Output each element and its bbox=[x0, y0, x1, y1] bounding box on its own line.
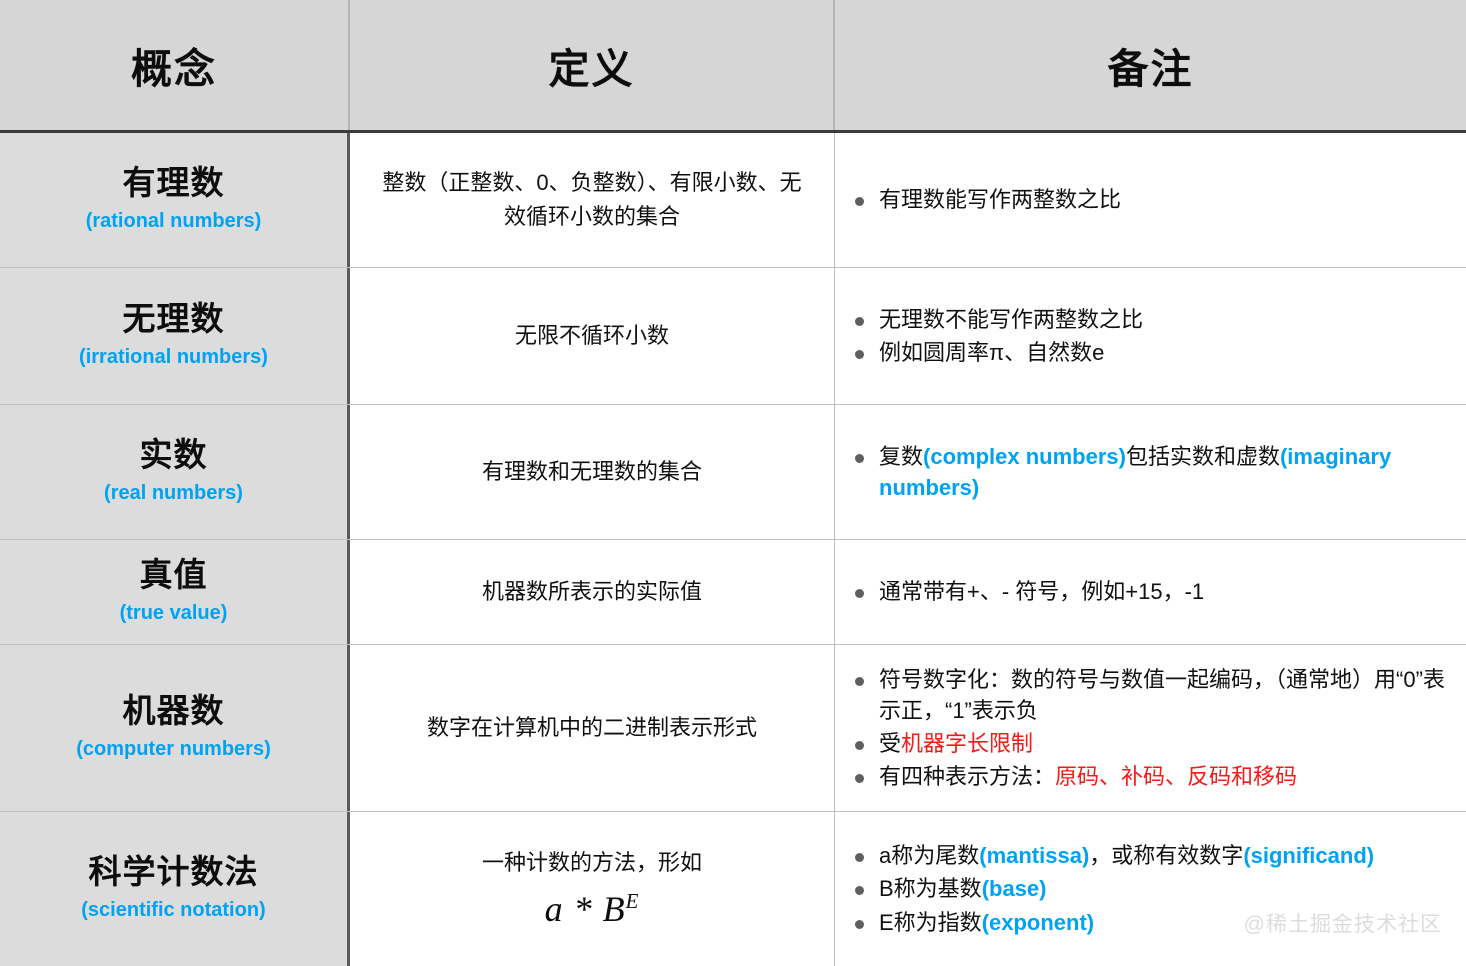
table-body: 有理数(rational numbers)整数（正整数、0、负整数）、有限小数、… bbox=[0, 133, 1466, 966]
note-item: 符号数字化：数的符号与数值一起编码，（通常地）用“0”表示正，“1”表示负 bbox=[845, 664, 1452, 726]
cell-concept: 实数(real numbers) bbox=[0, 405, 350, 539]
concept-name-en: (real numbers) bbox=[104, 479, 243, 508]
cell-notes: 通常带有+、- 符号，例如+15，-1 bbox=[835, 540, 1466, 644]
note-item: 有四种表示方法：原码、补码、反码和移码 bbox=[845, 761, 1452, 792]
column-header-notes: 备注 bbox=[835, 0, 1466, 130]
table-row: 有理数(rational numbers)整数（正整数、0、负整数）、有限小数、… bbox=[0, 133, 1466, 268]
note-item: E称为指数(exponent) bbox=[845, 907, 1452, 938]
note-segment-plain: 复数 bbox=[879, 444, 923, 469]
cell-notes: 无理数不能写作两整数之比例如圆周率π、自然数e bbox=[835, 268, 1466, 404]
note-segment-plain: 有四种表示方法： bbox=[879, 764, 1055, 789]
concept-table: 概念 定义 备注 有理数(rational numbers)整数（正整数、0、负… bbox=[0, 0, 1466, 966]
cell-notes: a称为尾数(mantissa)，或称有效数字(significand)B称为基数… bbox=[835, 812, 1466, 966]
concept-name-cn: 实数 bbox=[140, 436, 208, 475]
note-segment-plain: 无理数不能写作两整数之比 bbox=[879, 307, 1143, 332]
table-row: 真值(true value)机器数所表示的实际值通常带有+、- 符号，例如+15… bbox=[0, 540, 1466, 645]
note-item: 受机器字长限制 bbox=[845, 728, 1452, 759]
note-segment-plain: 通常带有+、- 符号，例如+15，-1 bbox=[879, 579, 1204, 604]
note-item: 无理数不能写作两整数之比 bbox=[845, 304, 1452, 335]
definition-text: 无限不循环小数 bbox=[515, 319, 669, 353]
concept-name-en: (scientific notation) bbox=[81, 896, 265, 925]
definition-text: 机器数所表示的实际值 bbox=[482, 575, 702, 609]
column-header-definition-label: 定义 bbox=[549, 35, 635, 95]
table-row: 实数(real numbers)有理数和无理数的集合复数(complex num… bbox=[0, 405, 1466, 540]
note-segment-plain: 例如圆周率π、自然数e bbox=[879, 340, 1104, 365]
cell-definition: 数字在计算机中的二进制表示形式 bbox=[350, 645, 835, 811]
note-item: 有理数能写作两整数之比 bbox=[845, 184, 1452, 215]
formula-base: a * B bbox=[545, 889, 626, 929]
column-header-concept: 概念 bbox=[0, 0, 350, 130]
column-header-notes-label: 备注 bbox=[1108, 35, 1194, 95]
cell-concept: 无理数(irrational numbers) bbox=[0, 268, 350, 404]
note-segment-blue: (significand) bbox=[1243, 843, 1374, 868]
note-segment-plain: a称为尾数 bbox=[879, 843, 979, 868]
notes-list: 符号数字化：数的符号与数值一起编码，（通常地）用“0”表示正，“1”表示负受机器… bbox=[845, 662, 1452, 795]
notes-list: 有理数能写作两整数之比 bbox=[845, 182, 1452, 217]
table-header-row: 概念 定义 备注 bbox=[0, 0, 1466, 133]
concept-name-en: (rational numbers) bbox=[86, 207, 262, 236]
concept-name-en: (computer numbers) bbox=[76, 735, 270, 764]
concept-name-cn: 机器数 bbox=[123, 692, 225, 731]
cell-notes: 复数(complex numbers)包括实数和虚数(imaginary num… bbox=[835, 405, 1466, 539]
note-segment-plain: ，或称有效数字 bbox=[1089, 843, 1243, 868]
definition-text: 整数（正整数、0、负整数）、有限小数、无效循环小数的集合 bbox=[372, 166, 812, 234]
cell-concept: 科学计数法(scientific notation) bbox=[0, 812, 350, 966]
note-segment-plain: 受 bbox=[879, 731, 901, 756]
table-row: 机器数(computer numbers)数字在计算机中的二进制表示形式符号数字… bbox=[0, 645, 1466, 812]
note-item: 复数(complex numbers)包括实数和虚数(imaginary num… bbox=[845, 441, 1452, 503]
note-item: B称为基数(base) bbox=[845, 873, 1452, 904]
note-item: 例如圆周率π、自然数e bbox=[845, 337, 1452, 368]
concept-name-cn: 真值 bbox=[140, 556, 208, 595]
concept-name-en: (irrational numbers) bbox=[79, 343, 268, 372]
table-row: 无理数(irrational numbers)无限不循环小数无理数不能写作两整数… bbox=[0, 268, 1466, 405]
concept-name-cn: 科学计数法 bbox=[89, 853, 259, 892]
cell-definition: 整数（正整数、0、负整数）、有限小数、无效循环小数的集合 bbox=[350, 133, 835, 267]
concept-name-cn: 无理数 bbox=[123, 300, 225, 339]
cell-concept: 机器数(computer numbers) bbox=[0, 645, 350, 811]
note-segment-plain: E称为指数 bbox=[879, 910, 982, 935]
note-segment-blue: (base) bbox=[982, 876, 1047, 901]
definition-text: 数字在计算机中的二进制表示形式 bbox=[427, 711, 757, 745]
notes-list: 无理数不能写作两整数之比例如圆周率π、自然数e bbox=[845, 302, 1452, 370]
note-segment-plain: 有理数能写作两整数之比 bbox=[879, 187, 1121, 212]
definition-text: 一种计数的方法，形如 bbox=[482, 846, 702, 880]
notes-list: a称为尾数(mantissa)，或称有效数字(significand)B称为基数… bbox=[845, 838, 1452, 940]
cell-definition: 一种计数的方法，形如a * BE bbox=[350, 812, 835, 966]
notes-list: 复数(complex numbers)包括实数和虚数(imaginary num… bbox=[845, 439, 1452, 505]
column-header-definition: 定义 bbox=[350, 0, 835, 130]
table-row: 科学计数法(scientific notation)一种计数的方法，形如a * … bbox=[0, 812, 1466, 966]
note-segment-blue: (mantissa) bbox=[979, 843, 1089, 868]
note-item: a称为尾数(mantissa)，或称有效数字(significand) bbox=[845, 840, 1452, 871]
formula-exponent: E bbox=[626, 889, 640, 913]
note-segment-red: 原码、补码、反码和移码 bbox=[1055, 764, 1297, 789]
cell-definition: 有理数和无理数的集合 bbox=[350, 405, 835, 539]
note-segment-plain: 包括实数和虚数 bbox=[1126, 444, 1280, 469]
definition-text: 有理数和无理数的集合 bbox=[482, 455, 702, 489]
cell-notes: 符号数字化：数的符号与数值一起编码，（通常地）用“0”表示正，“1”表示负受机器… bbox=[835, 645, 1466, 811]
note-segment-red: 机器字长限制 bbox=[901, 731, 1033, 756]
cell-notes: 有理数能写作两整数之比 bbox=[835, 133, 1466, 267]
note-segment-plain: 符号数字化：数的符号与数值一起编码，（通常地）用“0”表示正，“1”表示负 bbox=[879, 667, 1445, 723]
column-header-concept-label: 概念 bbox=[131, 35, 217, 95]
cell-concept: 有理数(rational numbers) bbox=[0, 133, 350, 267]
notes-list: 通常带有+、- 符号，例如+15，-1 bbox=[845, 574, 1452, 609]
concept-name-cn: 有理数 bbox=[123, 164, 225, 203]
definition-formula: a * BE bbox=[545, 886, 640, 933]
cell-concept: 真值(true value) bbox=[0, 540, 350, 644]
note-segment-blue: (exponent) bbox=[982, 910, 1094, 935]
concept-name-en: (true value) bbox=[120, 599, 228, 628]
cell-definition: 机器数所表示的实际值 bbox=[350, 540, 835, 644]
note-segment-blue: (complex numbers) bbox=[923, 444, 1126, 469]
note-segment-plain: B称为基数 bbox=[879, 876, 982, 901]
note-item: 通常带有+、- 符号，例如+15，-1 bbox=[845, 576, 1452, 607]
cell-definition: 无限不循环小数 bbox=[350, 268, 835, 404]
